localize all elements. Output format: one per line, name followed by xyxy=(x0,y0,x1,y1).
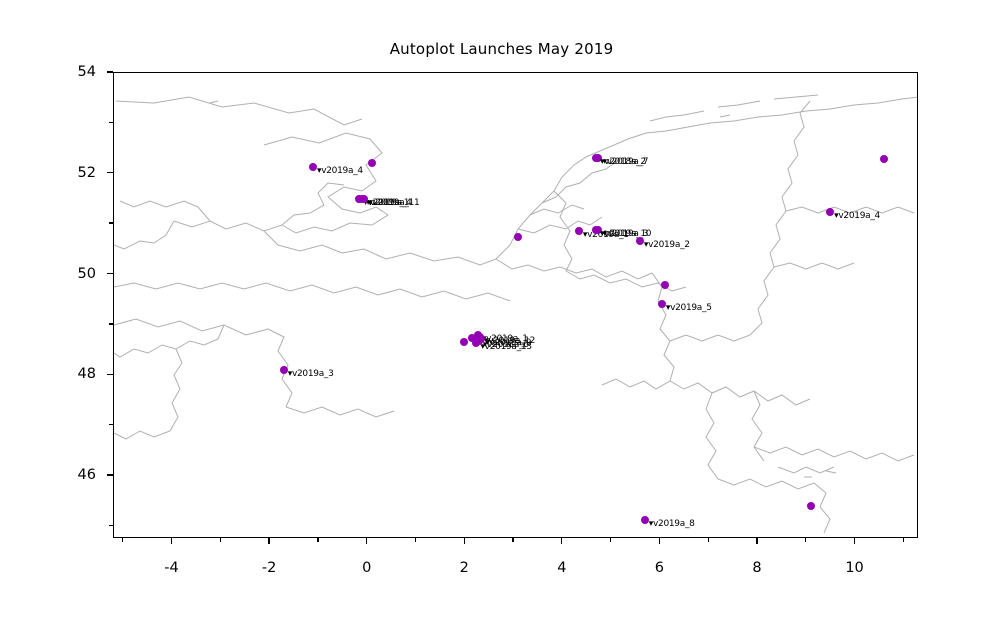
x-tick-minor xyxy=(512,538,513,542)
data-point xyxy=(514,233,522,241)
x-tick-minor xyxy=(610,538,611,542)
x-tick xyxy=(756,538,757,544)
y-tick-label: 54 xyxy=(0,64,96,80)
data-point-label: ▾v2019a_2 xyxy=(644,241,690,250)
data-point-label: ▾v2019a_3 xyxy=(288,370,334,379)
y-tick xyxy=(107,71,113,72)
x-tick-label: 6 xyxy=(655,560,664,576)
data-point xyxy=(636,237,644,245)
data-point xyxy=(575,227,583,235)
data-point-label: ▾v2019a_11 xyxy=(368,199,419,208)
x-tick xyxy=(268,538,269,544)
data-point xyxy=(592,226,600,234)
map-axes xyxy=(113,72,918,538)
y-tick-label: 50 xyxy=(0,266,96,282)
x-tick-minor xyxy=(805,538,806,542)
data-point-label: ▾v2019a_13 xyxy=(480,343,531,352)
data-point xyxy=(472,339,480,347)
x-tick-minor xyxy=(122,538,123,542)
y-tick xyxy=(107,474,113,475)
data-point xyxy=(368,159,376,167)
y-tick-minor xyxy=(109,424,113,425)
data-point xyxy=(880,155,888,163)
x-tick-label: 8 xyxy=(752,560,761,576)
y-tick-label: 46 xyxy=(0,467,96,483)
data-point xyxy=(360,195,368,203)
x-tick-minor xyxy=(317,538,318,542)
x-tick-label: -2 xyxy=(262,560,276,576)
x-tick-label: 0 xyxy=(362,560,371,576)
x-tick xyxy=(659,538,660,544)
data-point-label: ▾v2019a_8 xyxy=(649,520,695,529)
x-tick-minor xyxy=(708,538,709,542)
data-point-label: ▾v2018a_2 xyxy=(600,158,646,167)
x-tick-label: -4 xyxy=(164,560,178,576)
x-tick-label: 2 xyxy=(460,560,469,576)
x-tick xyxy=(854,538,855,544)
x-tick xyxy=(171,538,172,544)
data-point xyxy=(661,281,669,289)
data-point xyxy=(280,366,288,374)
y-tick xyxy=(107,172,113,173)
data-point-label: ▾v2019a_4 xyxy=(834,212,880,221)
x-tick-label: 4 xyxy=(557,560,566,576)
y-tick-minor xyxy=(109,323,113,324)
x-tick-label: 10 xyxy=(845,560,863,576)
data-point xyxy=(658,300,666,308)
y-tick xyxy=(107,374,113,375)
data-point-label: ▾v2019a_10 xyxy=(600,230,651,239)
y-tick-minor xyxy=(109,122,113,123)
x-tick xyxy=(366,538,367,544)
chart-title: Autoplot Launches May 2019 xyxy=(0,40,1003,58)
x-tick xyxy=(464,538,465,544)
coastline-layer xyxy=(114,73,918,538)
y-tick-label: 52 xyxy=(0,165,96,181)
x-tick xyxy=(561,538,562,544)
x-tick-minor xyxy=(903,538,904,542)
data-point xyxy=(592,154,600,162)
x-tick-minor xyxy=(415,538,416,542)
data-point xyxy=(641,516,649,524)
data-point xyxy=(826,208,834,216)
y-tick-minor xyxy=(109,525,113,526)
figure-canvas: Autoplot Launches May 2019 xyxy=(0,0,1003,633)
data-point xyxy=(309,163,317,171)
y-tick-minor xyxy=(109,222,113,223)
data-point-label: ▾v2019a_4 xyxy=(317,167,363,176)
y-tick-label: 48 xyxy=(0,366,96,382)
data-point xyxy=(807,502,815,510)
x-tick-minor xyxy=(220,538,221,542)
data-point-label: ▾v2019a_5 xyxy=(666,304,712,313)
y-tick xyxy=(107,273,113,274)
